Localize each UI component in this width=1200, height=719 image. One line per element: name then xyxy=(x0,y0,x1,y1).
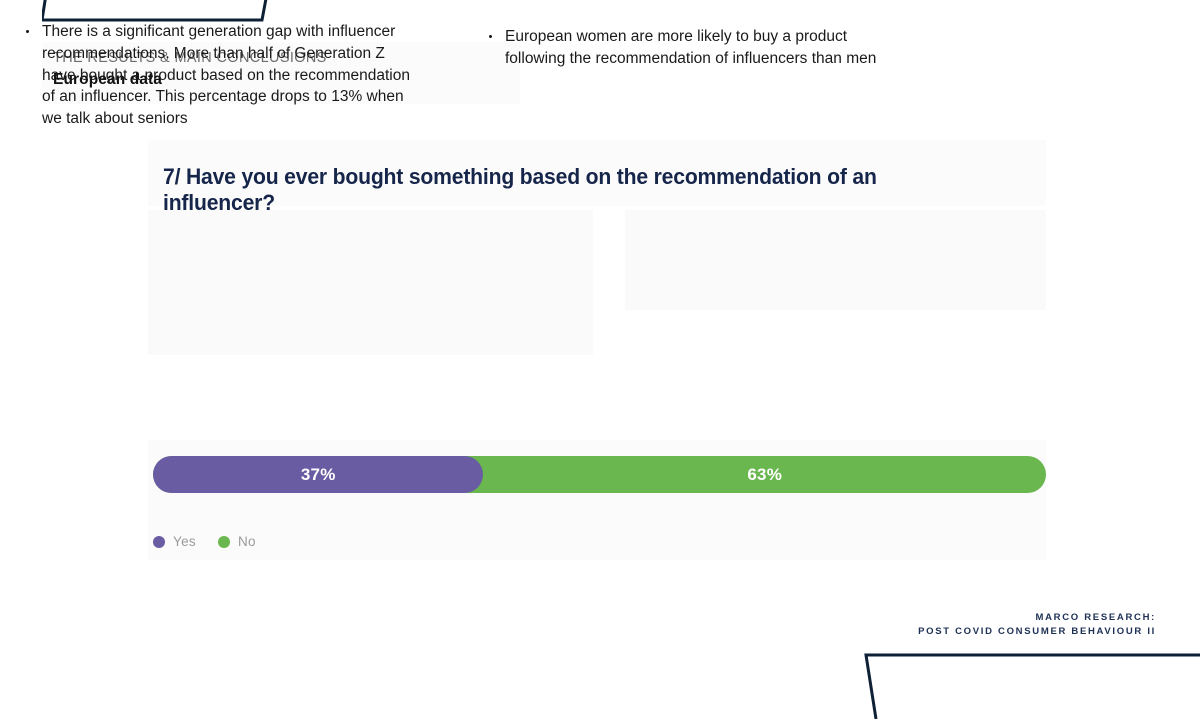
bar-track: 63% 37% xyxy=(153,456,1046,493)
chart-legend: Yes No xyxy=(153,534,256,549)
legend-label-yes: Yes xyxy=(173,534,196,549)
footer-line-1: MARCO RESEARCH: xyxy=(918,611,1156,625)
stacked-bar-chart: 63% 37% xyxy=(153,456,1046,493)
bar-value-yes: 37% xyxy=(301,465,336,485)
bullet-dot-icon xyxy=(489,35,492,38)
legend-swatch-yes-icon xyxy=(153,536,165,548)
bullet-dot-icon xyxy=(26,30,29,33)
bar-value-no: 63% xyxy=(747,465,782,485)
list-item-text: European women are more likely to buy a … xyxy=(505,28,876,67)
legend-label-no: No xyxy=(238,534,256,549)
legend-swatch-no-icon xyxy=(218,536,230,548)
list-item: There is a significant generation gap wi… xyxy=(14,21,419,130)
bottom-right-decorative-frame xyxy=(862,653,1200,719)
top-left-decorative-frame xyxy=(42,0,274,22)
legend-entry-no: No xyxy=(218,534,256,549)
bullet-list-left: There is a significant generation gap wi… xyxy=(14,21,419,130)
footer-line-2: POST COVID CONSUMER BEHAVIOUR II xyxy=(918,625,1156,639)
bullets-row xyxy=(148,210,1046,355)
bullet-panel-left xyxy=(148,210,593,355)
bullet-list-right: European women are more likely to buy a … xyxy=(477,26,877,70)
bullet-panel-right xyxy=(625,210,1046,310)
footer: MARCO RESEARCH: POST COVID CONSUMER BEHA… xyxy=(918,611,1156,639)
bar-segment-yes: 37% xyxy=(153,456,483,493)
legend-entry-yes: Yes xyxy=(153,534,196,549)
list-item-text: There is a significant generation gap wi… xyxy=(42,23,410,127)
page-title: 7/ Have you ever bought something based … xyxy=(163,164,981,216)
list-item: European women are more likely to buy a … xyxy=(477,26,877,70)
